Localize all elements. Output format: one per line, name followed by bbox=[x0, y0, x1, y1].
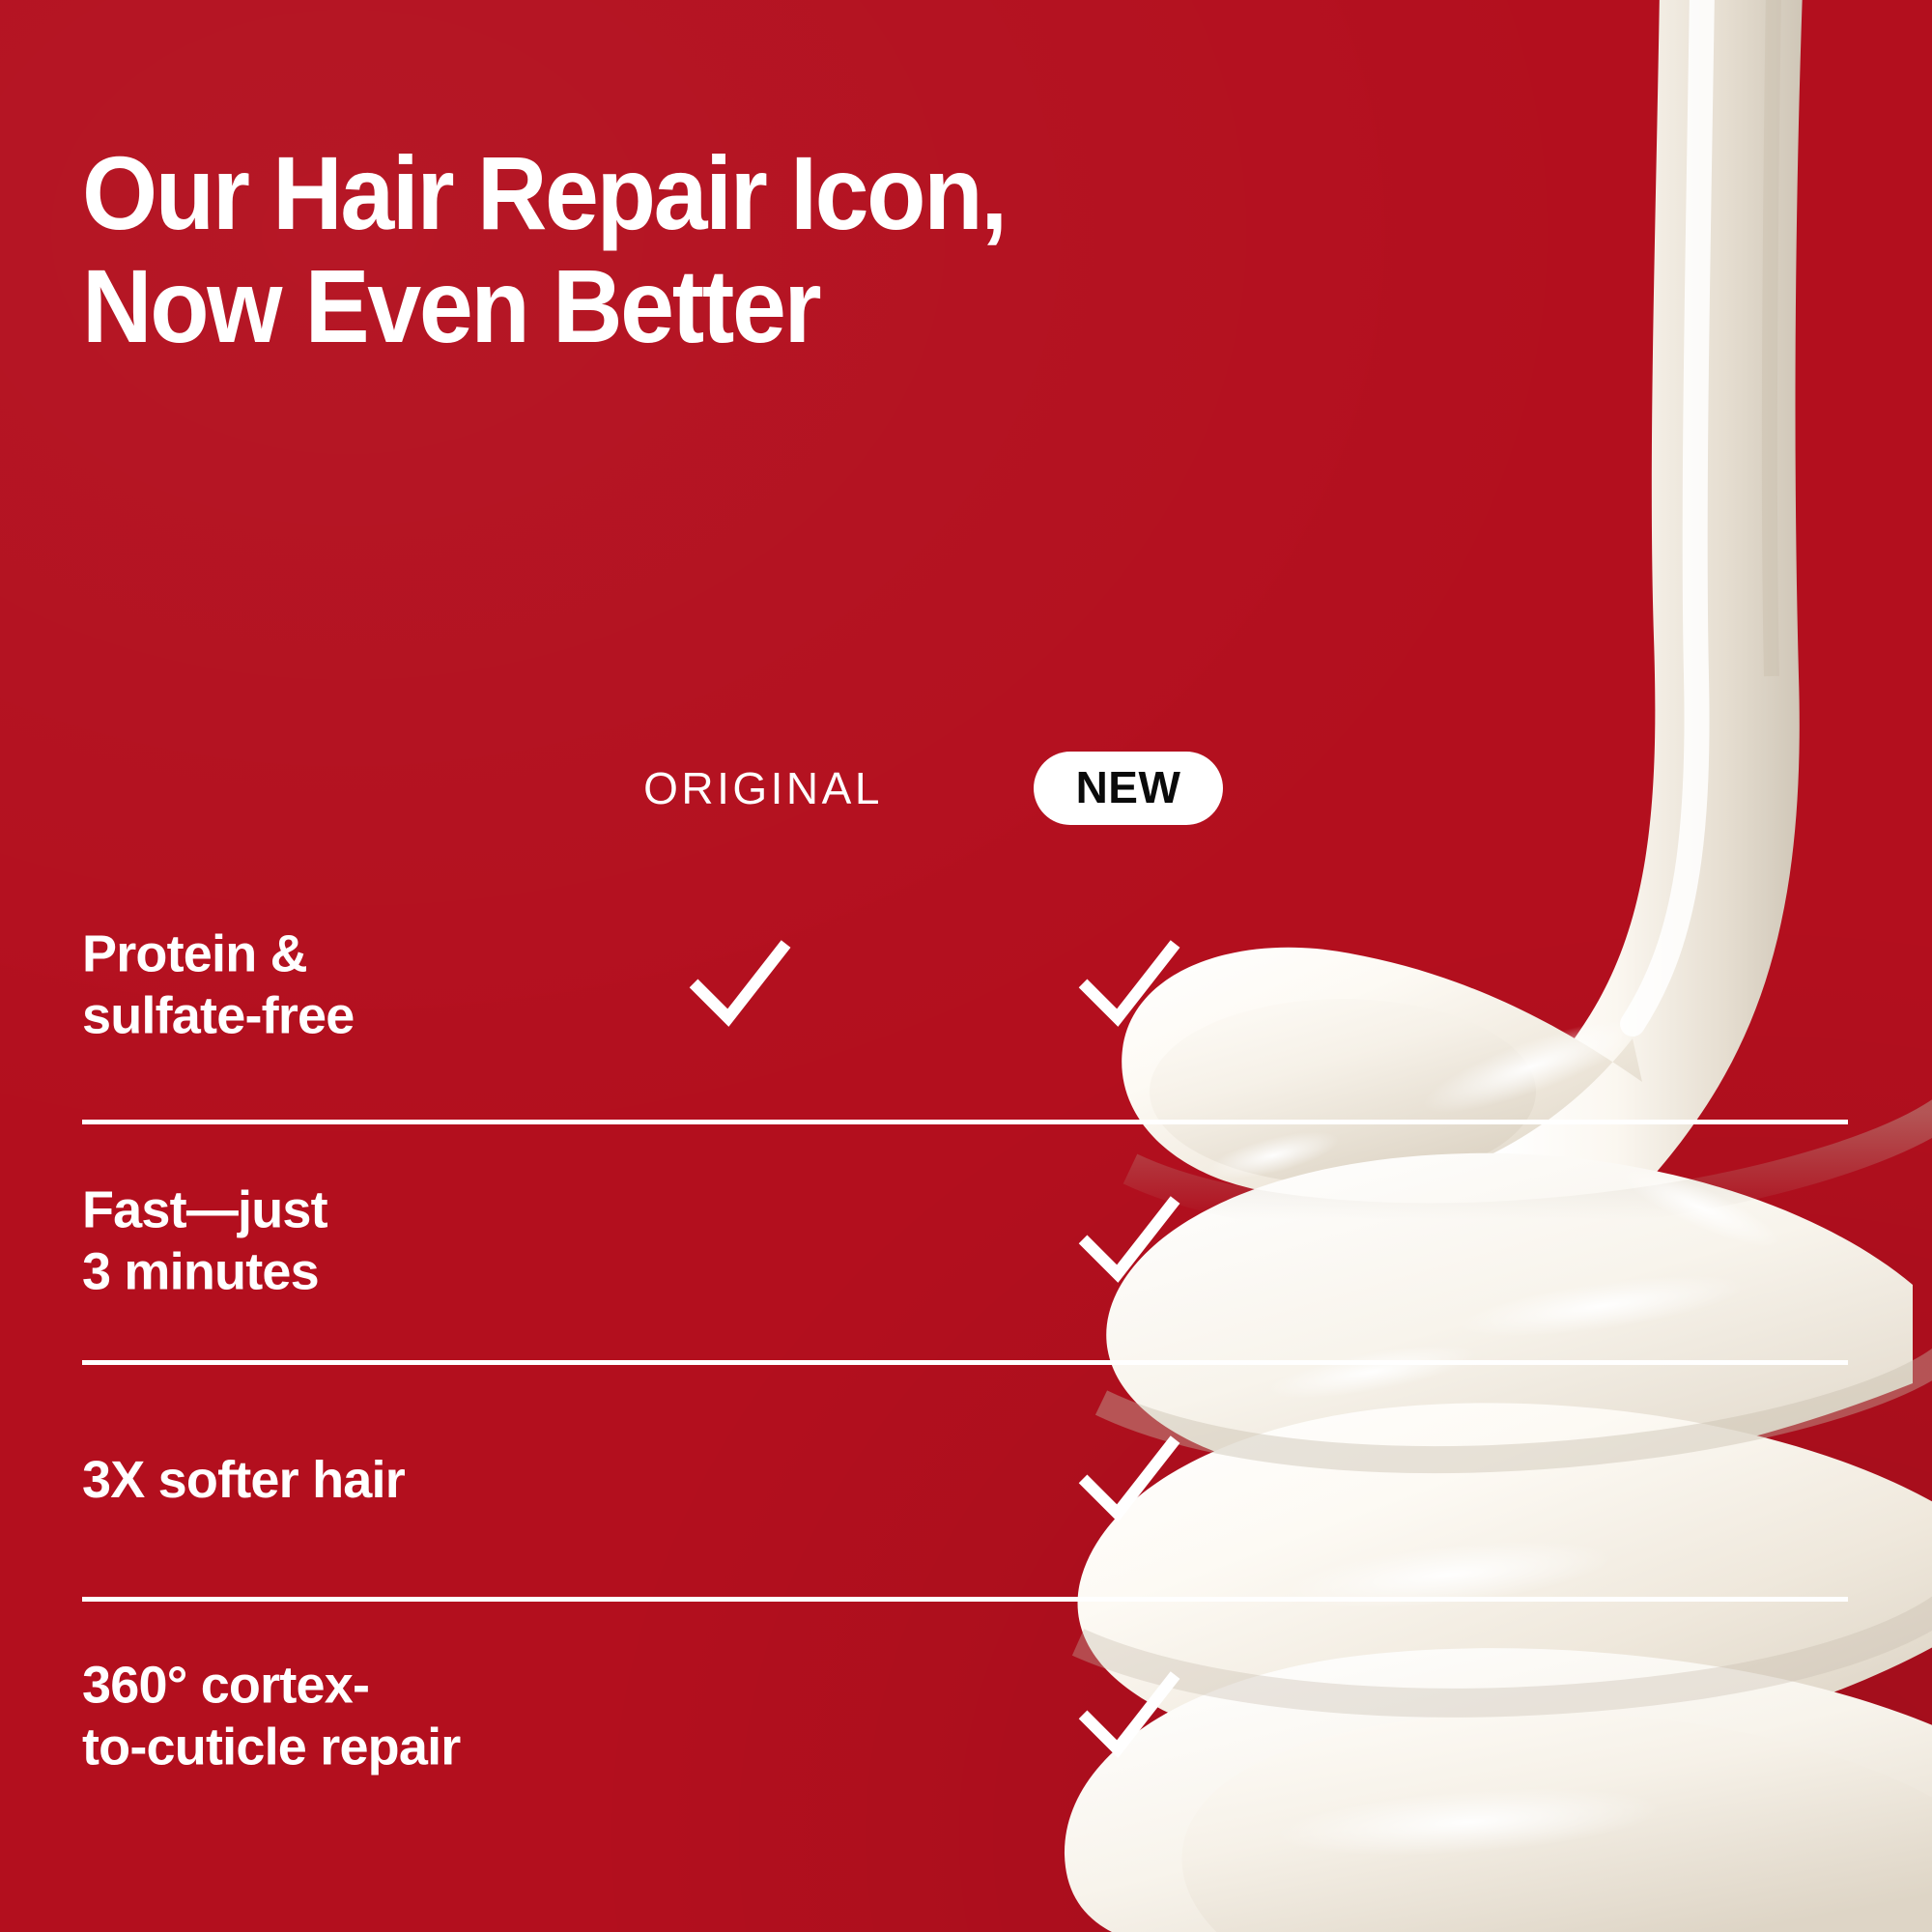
feature-label-line-1: 360° cortex- bbox=[82, 1655, 623, 1717]
headline-line-2: Now Even Better bbox=[82, 250, 1160, 363]
checkmark-original-absent bbox=[681, 1423, 797, 1539]
feature-label: Fast—just 3 minutes bbox=[82, 1179, 623, 1302]
checkmark-original bbox=[681, 927, 797, 1043]
checkmark-original-absent bbox=[681, 1659, 797, 1775]
feature-label-line-2: sulfate-free bbox=[82, 985, 623, 1047]
column-header-new: NEW bbox=[1005, 749, 1252, 828]
row-divider bbox=[82, 1120, 1848, 1124]
feature-row: Fast—just 3 minutes bbox=[0, 1140, 1932, 1343]
headline-line-1: Our Hair Repair Icon, bbox=[82, 137, 1160, 250]
feature-row: Protein & sulfate-free bbox=[0, 884, 1932, 1087]
page-title: Our Hair Repair Icon, Now Even Better bbox=[82, 137, 1160, 362]
feature-label-line-1: Fast—just bbox=[82, 1179, 623, 1241]
column-header-original: ORIGINAL bbox=[599, 749, 927, 828]
feature-label-line-1: 3X softer hair bbox=[82, 1450, 623, 1512]
feature-label-line-2: to-cuticle repair bbox=[82, 1717, 623, 1778]
checkmark-new bbox=[1070, 1659, 1186, 1775]
checkmark-new bbox=[1070, 1423, 1186, 1539]
column-header-original-label: ORIGINAL bbox=[643, 762, 883, 814]
checkmark-original-absent bbox=[681, 1183, 797, 1299]
row-divider bbox=[82, 1360, 1848, 1365]
feature-label: 360° cortex- to-cuticle repair bbox=[82, 1655, 623, 1777]
feature-row: 360° cortex- to-cuticle repair bbox=[0, 1615, 1932, 1818]
comparison-poster: Our Hair Repair Icon, Now Even Better OR… bbox=[0, 0, 1932, 1932]
new-badge: NEW bbox=[1034, 752, 1224, 825]
feature-label-line-2: 3 minutes bbox=[82, 1241, 623, 1303]
row-divider bbox=[82, 1597, 1848, 1602]
feature-label: Protein & sulfate-free bbox=[82, 923, 623, 1046]
feature-label-line-1: Protein & bbox=[82, 923, 623, 985]
checkmark-new bbox=[1070, 927, 1186, 1043]
feature-label: 3X softer hair bbox=[82, 1450, 623, 1512]
feature-row: 3X softer hair bbox=[0, 1379, 1932, 1582]
checkmark-new bbox=[1070, 1183, 1186, 1299]
